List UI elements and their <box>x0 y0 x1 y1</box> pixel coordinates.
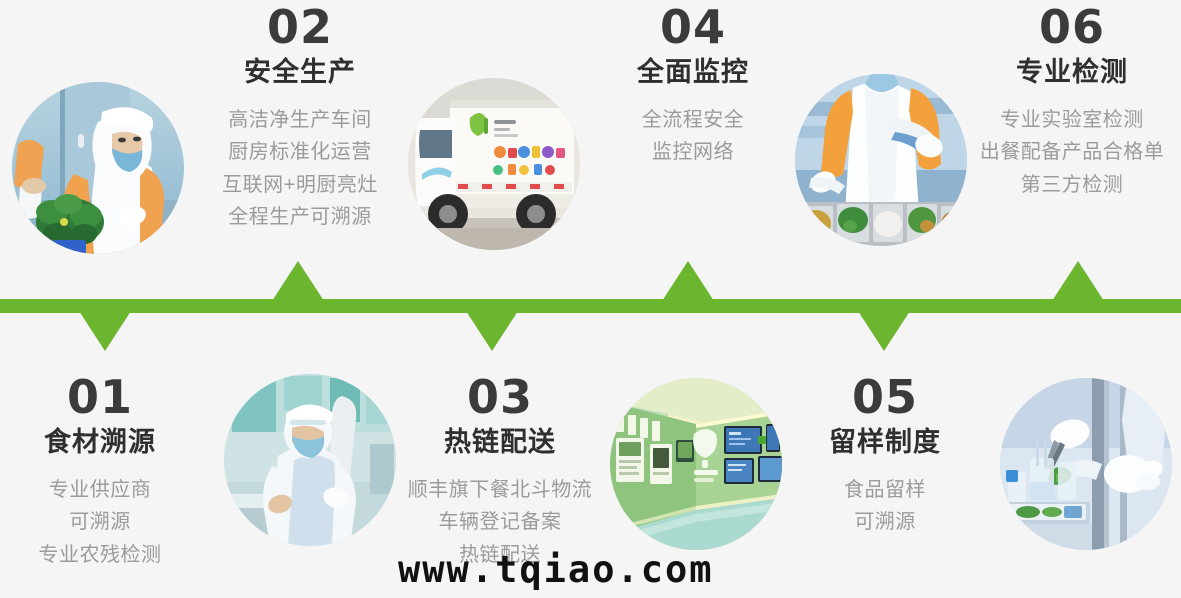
step-number-03: 03 <box>385 374 615 420</box>
step-line: 可溯源 <box>0 506 210 538</box>
timeline-arrow-down-05 <box>858 311 910 351</box>
photo-worker-inspecting-vegetables <box>12 82 184 254</box>
timeline-arrow-up-02 <box>272 261 324 301</box>
step-title-06: 专业检测 <box>962 56 1181 90</box>
step-title-04: 全面监控 <box>583 56 803 90</box>
photo-monitoring-control-room <box>610 378 782 550</box>
step-block-03: 03 热链配送 顺丰旗下餐北斗物流 车辆登记备案 热链配送 <box>385 374 615 571</box>
step-number-06: 06 <box>962 4 1181 50</box>
step-lines-04: 全流程安全 监控网络 <box>583 104 803 169</box>
step-block-01: 01 食材溯源 专业供应商 可溯源 专业农残检测 <box>0 374 210 571</box>
step-line: 全流程安全 <box>583 104 803 136</box>
infographic-canvas: 02 安全生产 高洁净生产车间 厨房标准化运营 互联网+明厨亮灶 全程生产可溯源… <box>0 0 1181 598</box>
photo-artwork <box>795 74 967 246</box>
step-block-05: 05 留样制度 食品留样 可溯源 <box>775 374 995 539</box>
step-lines-02: 高洁净生产车间 厨房标准化运营 互联网+明厨亮灶 全程生产可溯源 <box>190 104 410 234</box>
photo-artwork <box>12 82 184 254</box>
step-line: 专业农残检测 <box>0 539 210 571</box>
step-line: 可溯源 <box>775 506 995 538</box>
step-line: 专业实验室检测 <box>962 104 1181 136</box>
watermark-text: www.tqiao.com <box>398 548 714 591</box>
step-number-01: 01 <box>0 374 210 420</box>
step-lines-05: 食品留样 可溯源 <box>775 474 995 539</box>
step-line: 出餐配备产品合格单 <box>962 136 1181 168</box>
photo-kitchen-chef-working <box>224 374 396 546</box>
step-line: 监控网络 <box>583 136 803 168</box>
step-title-02: 安全生产 <box>190 56 410 90</box>
step-line: 互联网+明厨亮灶 <box>190 169 410 201</box>
timeline-arrow-down-01 <box>79 311 131 351</box>
photo-artwork <box>1000 378 1172 550</box>
step-number-02: 02 <box>190 4 410 50</box>
timeline-arrow-down-03 <box>466 311 518 351</box>
step-number-04: 04 <box>583 4 803 50</box>
step-line: 全程生产可溯源 <box>190 201 410 233</box>
step-line: 专业供应商 <box>0 474 210 506</box>
photo-artwork <box>224 374 396 546</box>
photo-staff-serving-food-trays <box>795 74 967 246</box>
timeline-arrow-up-04 <box>662 261 714 301</box>
timeline-arrow-up-06 <box>1052 261 1104 301</box>
step-block-06: 06 专业检测 专业实验室检测 出餐配备产品合格单 第三方检测 <box>962 4 1181 201</box>
step-title-03: 热链配送 <box>385 426 615 460</box>
step-block-04: 04 全面监控 全流程安全 监控网络 <box>583 4 803 169</box>
step-title-05: 留样制度 <box>775 426 995 460</box>
step-block-02: 02 安全生产 高洁净生产车间 厨房标准化运营 互联网+明厨亮灶 全程生产可溯源 <box>190 4 410 233</box>
step-line: 高洁净生产车间 <box>190 104 410 136</box>
photo-artwork <box>408 78 580 250</box>
step-line: 食品留样 <box>775 474 995 506</box>
step-number-05: 05 <box>775 374 995 420</box>
step-line: 顺丰旗下餐北斗物流 <box>385 474 615 506</box>
step-lines-01: 专业供应商 可溯源 专业农残检测 <box>0 474 210 571</box>
step-line: 厨房标准化运营 <box>190 136 410 168</box>
timeline-bar <box>0 299 1181 313</box>
photo-artwork <box>610 378 782 550</box>
photo-laboratory-sample-testing <box>1000 378 1172 550</box>
step-lines-06: 专业实验室检测 出餐配备产品合格单 第三方检测 <box>962 104 1181 201</box>
step-title-01: 食材溯源 <box>0 426 210 460</box>
step-line: 车辆登记备案 <box>385 506 615 538</box>
photo-delivery-truck <box>408 78 580 250</box>
step-line: 第三方检测 <box>962 169 1181 201</box>
